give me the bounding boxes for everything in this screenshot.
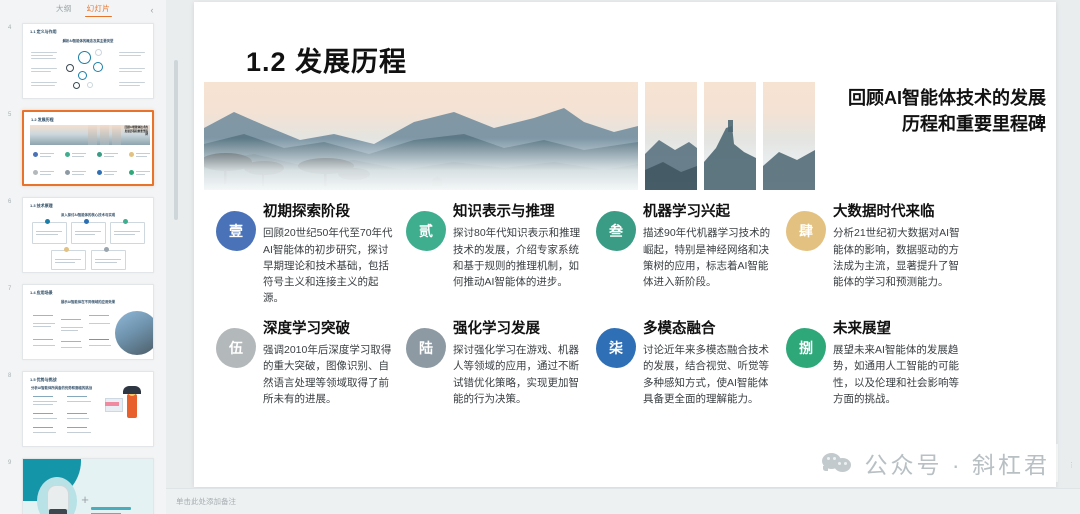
numeral-text: 肆 <box>799 221 813 241</box>
watermark: 公众号 · 斜杠君 <box>814 444 1058 482</box>
card-heading: 知识表示与推理 <box>453 204 588 221</box>
presentation-editor: 大纲 幻灯片 ‹ 4 1.1 定义与作用 解析AI智能体的概念及其主要类型 <box>0 0 1080 514</box>
thumbnail-number: 7 <box>8 286 11 292</box>
numeral-badge-4: 肆 <box>786 211 826 251</box>
thumbnail-title: 1.3 技术原理 <box>30 203 53 209</box>
numeral-text: 贰 <box>419 221 433 241</box>
tab-slides[interactable]: 幻灯片 <box>85 2 112 17</box>
numeral-badge-3: 叁 <box>596 211 636 251</box>
list-item[interactable]: 4 1.1 定义与作用 解析AI智能体的概念及其主要类型 <box>22 23 154 99</box>
plus-icon[interactable]: + <box>78 492 92 506</box>
numeral-badge-7: 柒 <box>596 328 636 368</box>
card-row-1: 壹 初期探索阶段 回顾20世纪50年代至70年代AI智能体的初步研究，探讨早期理… <box>216 204 1038 307</box>
milestone-card-1[interactable]: 壹 初期探索阶段 回顾20世纪50年代至70年代AI智能体的初步研究，探讨早期理… <box>216 204 406 307</box>
thumbnail-subtitle: 深入探讨AI智能体的核心技术与实现 <box>23 212 153 217</box>
thumbnail-slide-8[interactable]: 1.5 优势与挑战 分析AI智能体所具备的优势和面临的挑战 <box>22 371 154 447</box>
notes-placeholder: 单击此处添加备注 <box>176 496 236 507</box>
notes-pane[interactable]: 单击此处添加备注 <box>166 488 1080 514</box>
hero-image-main <box>204 82 638 190</box>
gear-icon <box>73 82 80 89</box>
numeral-text: 叁 <box>609 221 623 241</box>
card-body-text: 强调2010年后深度学习取得的重大突破，图像识别、自然语言处理等领域取得了前所未… <box>263 342 398 407</box>
current-slide[interactable]: 1.2 发展历程 <box>194 2 1056 487</box>
thumbnail-title: 1.2 发展历程 <box>31 117 54 123</box>
thumbnail-hero-caption: 回顾AI智能体技术的发展历程和重要里程碑 <box>124 126 148 137</box>
thumbnail-title: 1.1 定义与作用 <box>30 29 57 35</box>
numeral-text: 壹 <box>229 221 243 241</box>
numeral-badge-5: 伍 <box>216 328 256 368</box>
milestone-card-2[interactable]: 贰 知识表示与推理 探讨80年代知识表示和推理技术的发展，介绍专家系统和基于规则… <box>406 204 596 307</box>
card-heading: 未来展望 <box>833 321 968 338</box>
numeral-badge-8: 捌 <box>786 328 826 368</box>
illustration-person <box>127 394 137 418</box>
thumbnail-title: 1.5 优势与挑战 <box>30 377 57 383</box>
card-heading: 初期探索阶段 <box>263 204 398 221</box>
wechat-icon <box>822 451 856 475</box>
thumbnail-slide-4[interactable]: 1.1 定义与作用 解析AI智能体的概念及其主要类型 <box>22 23 154 99</box>
hero-image-strip-3 <box>763 82 815 190</box>
vertical-scrollbar[interactable] <box>174 60 178 220</box>
list-item[interactable]: 6 1.3 技术原理 深入探讨AI智能体的核心技术与实现 <box>22 197 154 273</box>
thumbnail-number: 9 <box>8 460 11 466</box>
card-body-text: 描述90年代机器学习技术的崛起，特别是神经网络和决策树的应用，标志着AI智能体进… <box>643 225 778 290</box>
card-heading: 大数据时代来临 <box>833 204 968 221</box>
list-item[interactable]: 5 1.2 发展历程 回顾AI智能体技术的发展历程和重要里程碑 <box>22 110 154 186</box>
thumbnail-number: 4 <box>8 25 11 31</box>
gear-icon <box>78 51 91 64</box>
tab-outline[interactable]: 大纲 <box>54 2 74 17</box>
card-body-text: 讨论近年来多模态融合技术的发展，结合视觉、听觉等多种感知方式，使AI智能体具备更… <box>643 342 778 407</box>
list-item[interactable]: 8 1.5 优势与挑战 分析AI智能体所具备的优势和面临的挑战 <box>22 371 154 447</box>
numeral-text: 柒 <box>609 338 623 358</box>
chevron-left-icon[interactable]: ‹ <box>146 4 158 16</box>
milestone-card-8[interactable]: 捌 未来展望 展望未来AI智能体的发展趋势，如通用人工智能的可能性，以及伦理和社… <box>786 321 976 407</box>
gear-icon <box>93 62 103 72</box>
thumbnail-number: 5 <box>8 112 11 118</box>
list-item[interactable]: 7 1.4 应用场景 展示AI智能体在不同领域的应用效果 <box>22 284 154 360</box>
thumbnail-subtitle: 解析AI智能体的概念及其主要类型 <box>23 38 153 43</box>
thumbnail-number: 6 <box>8 199 11 205</box>
card-row-2: 伍 深度学习突破 强调2010年后深度学习取得的重大突破，图像识别、自然语言处理… <box>216 321 1038 407</box>
gear-icon <box>66 64 74 72</box>
milestone-card-7[interactable]: 柒 多模态融合 讨论近年来多模态融合技术的发展，结合视觉、听觉等多种感知方式，使… <box>596 321 786 407</box>
numeral-badge-1: 壹 <box>216 211 256 251</box>
numeral-badge-6: 陆 <box>406 328 446 368</box>
milestone-card-6[interactable]: 陆 强化学习发展 探讨强化学习在游戏、机器人等领域的应用，通过不断试错优化策略，… <box>406 321 596 407</box>
thumbnail-slide-6[interactable]: 1.3 技术原理 深入探讨AI智能体的核心技术与实现 <box>22 197 154 273</box>
thumbnail-number: 8 <box>8 373 11 379</box>
numeral-text: 捌 <box>799 338 813 358</box>
thumbnail-slide-5[interactable]: 1.2 发展历程 回顾AI智能体技术的发展历程和重要里程碑 <box>22 110 154 186</box>
gear-icon <box>78 71 87 80</box>
sidebar-tabs: 大纲 幻灯片 ‹ <box>0 0 166 19</box>
card-heading: 深度学习突破 <box>263 321 398 338</box>
card-heading: 多模态融合 <box>643 321 778 338</box>
thumbnail-subtitle: 展示AI智能体在不同领域的应用效果 <box>23 299 153 304</box>
hero-caption: 回顾AI智能体技术的发展历程和重要里程碑 <box>841 86 1046 137</box>
card-body-text: 分析21世纪初大数据对AI智能体的影响，数据驱动的方法成为主流，显著提升了智能体… <box>833 225 968 290</box>
thumbnail-slide-7[interactable]: 1.4 应用场景 展示AI智能体在不同领域的应用效果 <box>22 284 154 360</box>
watermark-text: 公众号 · 斜杠君 <box>865 446 1050 480</box>
card-body-text: 回顾20世纪50年代至70年代AI智能体的初步研究，探讨早期理论和技术基础，包括… <box>263 225 398 306</box>
hero-image-strip-2 <box>704 82 756 190</box>
slide-thumbnail-sidebar: 大纲 幻灯片 ‹ 4 1.1 定义与作用 解析AI智能体的概念及其主要类型 <box>0 0 166 514</box>
more-options-icon[interactable]: ⋮ <box>1068 463 1075 468</box>
gear-icon <box>95 49 102 56</box>
card-heading: 机器学习兴起 <box>643 204 778 221</box>
thumbnail-list[interactable]: 4 1.1 定义与作用 解析AI智能体的概念及其主要类型 <box>0 19 166 514</box>
milestone-card-3[interactable]: 叁 机器学习兴起 描述90年代机器学习技术的崛起，特别是神经网络和决策树的应用，… <box>596 204 786 307</box>
slide-canvas-area: 1.2 发展历程 <box>166 0 1080 514</box>
card-body-text: 展望未来AI智能体的发展趋势，如通用人工智能的可能性，以及伦理和社会影响等方面的… <box>833 342 968 407</box>
gear-icon <box>87 82 93 88</box>
hero-image-strip-1 <box>645 82 697 190</box>
card-body-text: 探讨80年代知识表示和推理技术的发展，介绍专家系统和基于规则的推理机制，如何推动… <box>453 225 588 290</box>
card-heading: 强化学习发展 <box>453 321 588 338</box>
milestone-card-4[interactable]: 肆 大数据时代来临 分析21世纪初大数据对AI智能体的影响，数据驱动的方法成为主… <box>786 204 976 307</box>
thumbnail-title: 1.4 应用场景 <box>30 290 53 296</box>
milestone-cards: 壹 初期探索阶段 回顾20世纪50年代至70年代AI智能体的初步研究，探讨早期理… <box>216 204 1038 407</box>
thumbnail-photo <box>115 311 154 355</box>
numeral-text: 陆 <box>419 338 433 358</box>
milestone-card-5[interactable]: 伍 深度学习突破 强调2010年后深度学习取得的重大突破，图像识别、自然语言处理… <box>216 321 406 407</box>
numeral-badge-2: 贰 <box>406 211 446 251</box>
card-body-text: 探讨强化学习在游戏、机器人等领域的应用，通过不断试错优化策略，实现更加智能的行为… <box>453 342 588 407</box>
page-title: 1.2 发展历程 <box>246 40 407 79</box>
numeral-text: 伍 <box>229 338 243 358</box>
